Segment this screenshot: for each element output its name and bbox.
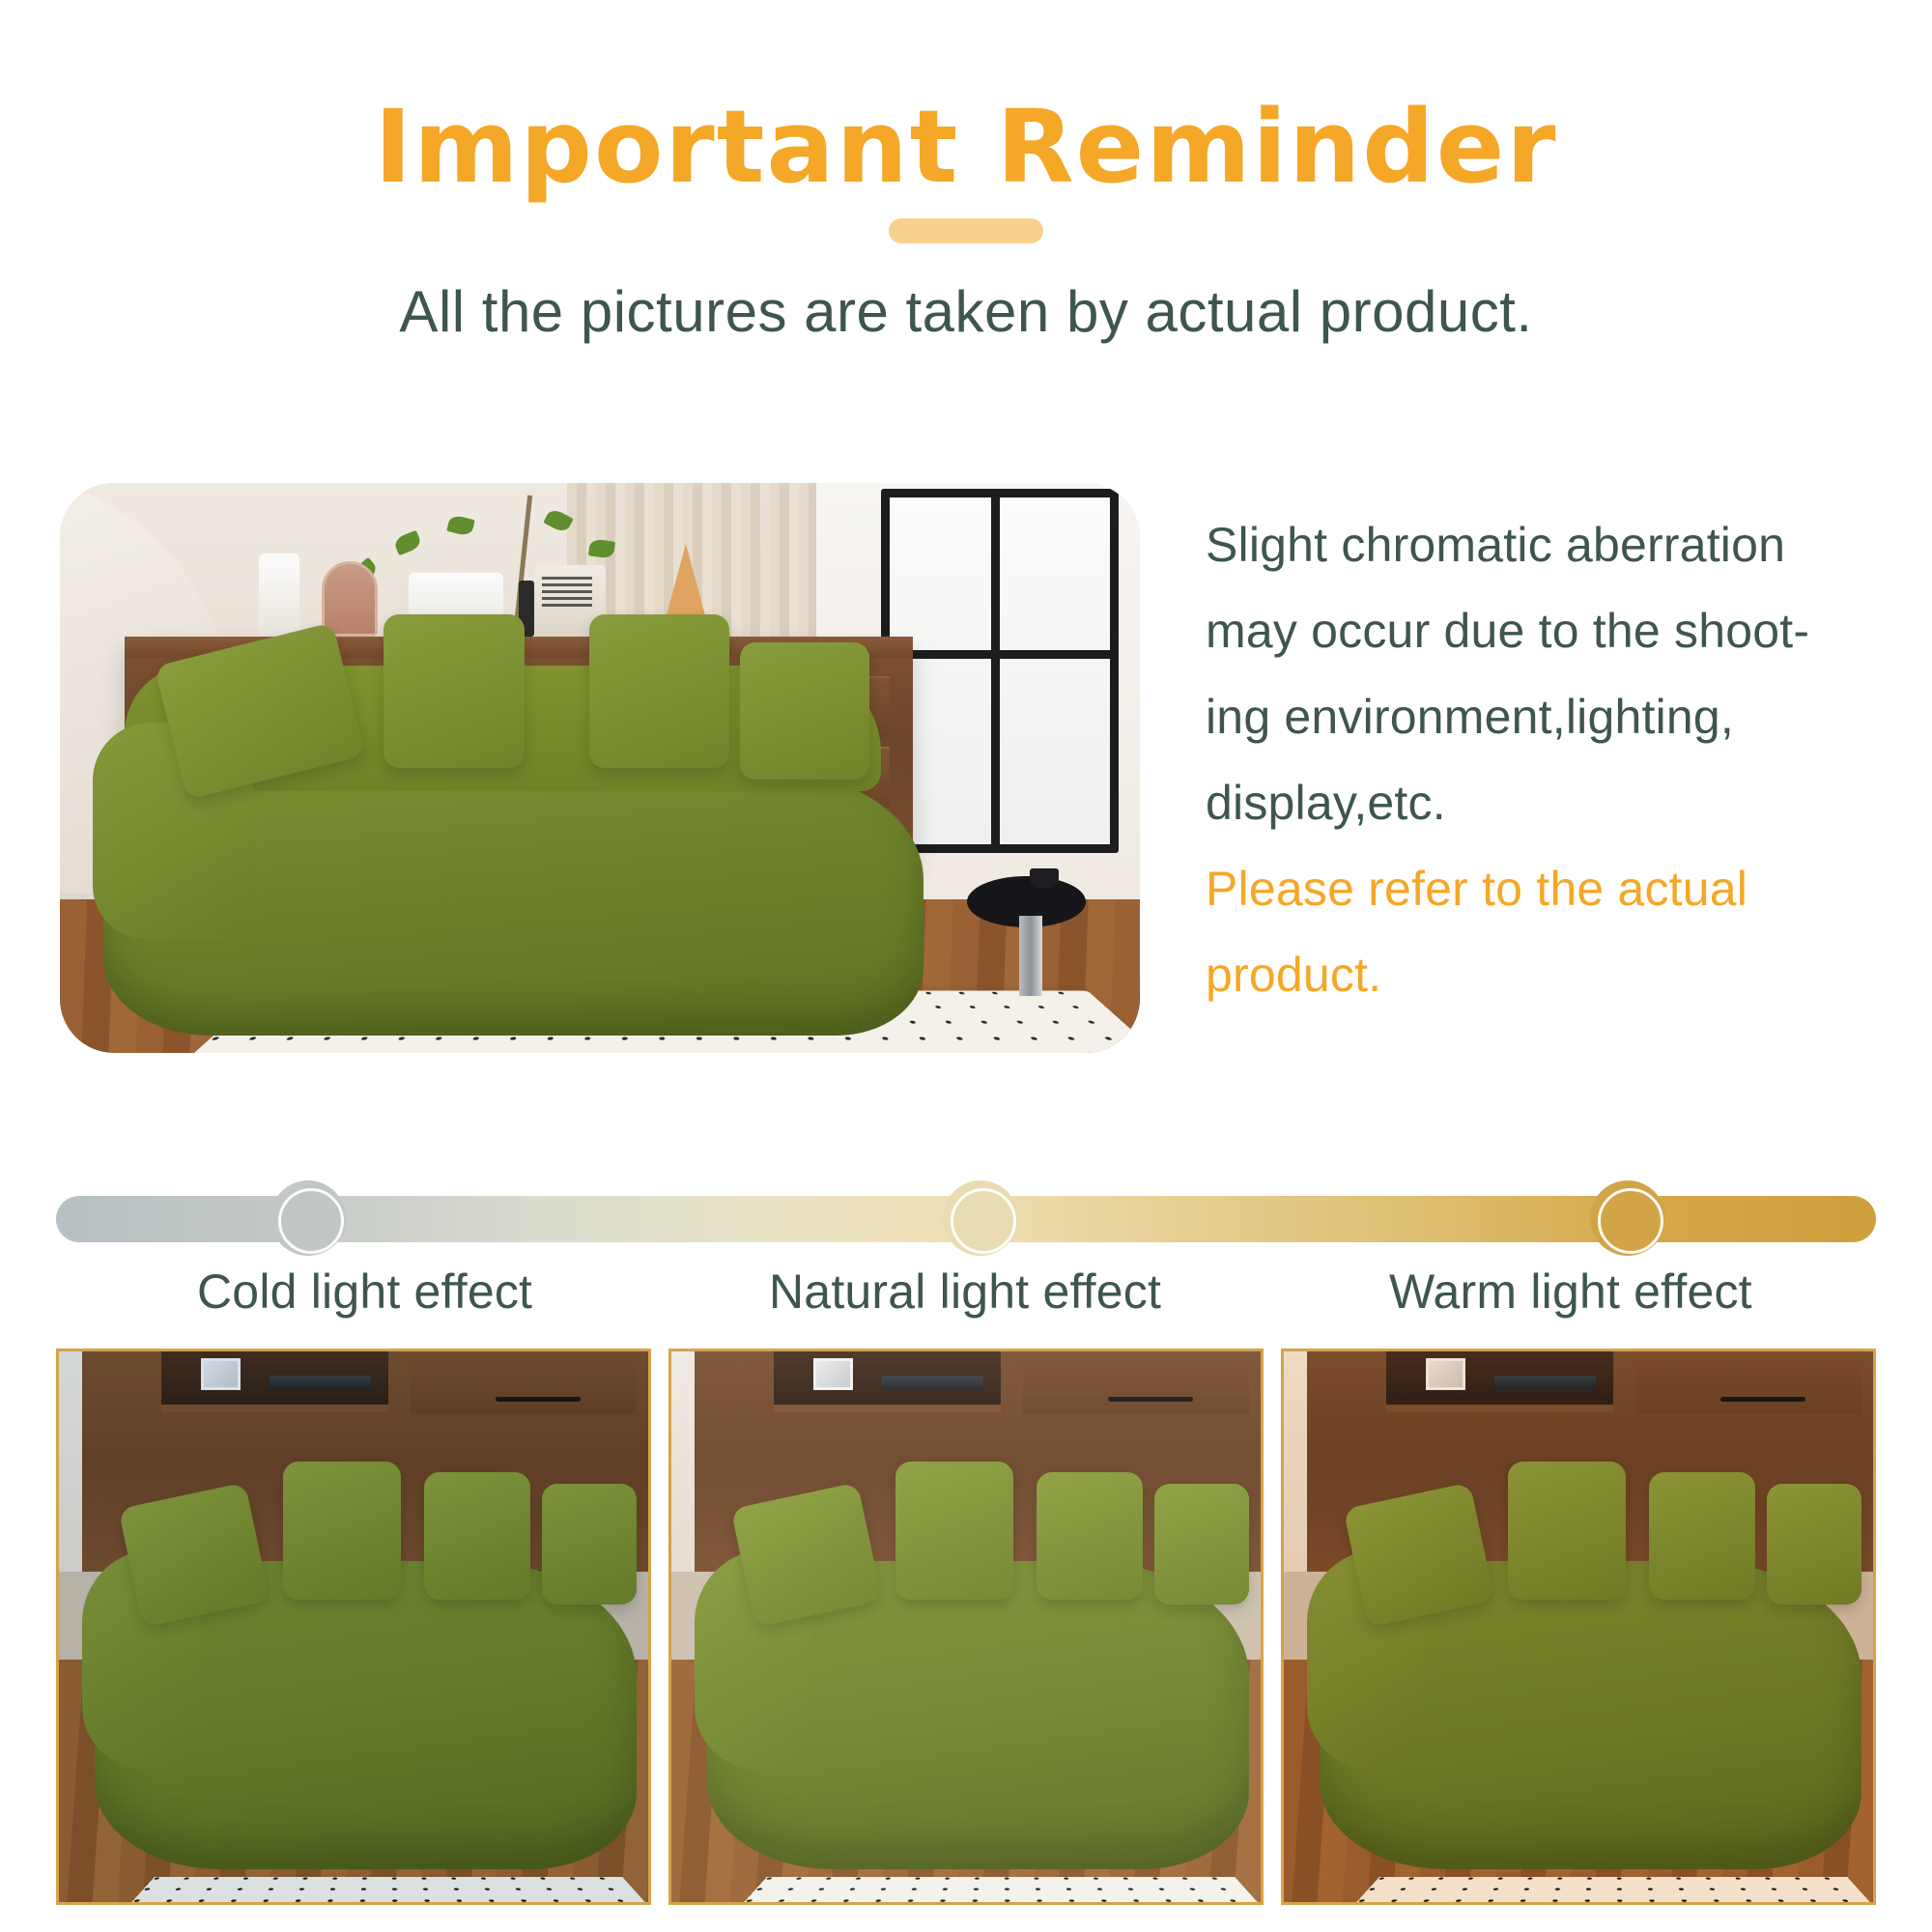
storage-tray	[270, 1376, 371, 1390]
sofa-cushion	[1154, 1484, 1249, 1605]
coffee-cup	[1030, 868, 1059, 888]
page-subtitle: All the pictures are taken by actual pro…	[0, 278, 1932, 345]
slider-knob-warm[interactable]	[1590, 1180, 1665, 1256]
sofa-cushion	[895, 1462, 1013, 1600]
disclaimer-line: may occur due to the shoot-	[1206, 588, 1872, 674]
disclaimer-emphasis-line: Please refer to the actual	[1206, 846, 1872, 932]
sofa-cushion	[283, 1462, 401, 1600]
label-natural-light-effect: Natural light effect	[769, 1264, 1161, 1320]
label-warm-light-effect: Warm light effect	[1389, 1264, 1752, 1320]
storage-tray	[882, 1376, 983, 1390]
disclaimer-line: display,etc.	[1206, 760, 1872, 846]
sideboard-drawer	[1023, 1349, 1249, 1414]
comparison-cell-cold	[56, 1349, 651, 1905]
rug-pattern	[1307, 1877, 1876, 1905]
living-room-scene	[60, 483, 1140, 1053]
arch-clock	[322, 561, 378, 637]
picture-frame	[201, 1358, 241, 1390]
label-cold-light-effect: Cold light effect	[197, 1264, 532, 1320]
rug-pattern	[695, 1877, 1264, 1905]
disclaimer-text-block: Slight chromatic aberration may occur du…	[1206, 502, 1872, 1018]
sofa-cushion	[1767, 1484, 1861, 1605]
light-temperature-slider[interactable]	[56, 1180, 1876, 1238]
natural-light-scene	[671, 1351, 1261, 1902]
disclaimer-line: ing environment,lighting,	[1206, 674, 1872, 760]
side-table-stem	[1019, 916, 1043, 996]
page-title: Important Reminder	[0, 93, 1932, 201]
comparison-cell-warm	[1281, 1349, 1876, 1905]
drawer-handle	[1720, 1397, 1805, 1402]
slider-knob-natural[interactable]	[943, 1180, 1018, 1256]
drawer-handle	[496, 1397, 581, 1402]
warm-light-scene	[1284, 1351, 1873, 1902]
reminder-infographic: Important Reminder All the pictures are …	[0, 0, 1932, 1932]
hero-row: Slight chromatic aberration may occur du…	[0, 483, 1932, 1053]
table-lamp	[259, 554, 299, 637]
sofa-cushion	[1508, 1462, 1626, 1600]
slider-knob-cold[interactable]	[270, 1180, 346, 1256]
sofa-cushion	[384, 614, 524, 768]
header: Important Reminder All the pictures are …	[0, 93, 1932, 345]
sideboard-drawer	[411, 1349, 637, 1414]
sofa-cushion	[1037, 1472, 1143, 1599]
bag-print	[542, 574, 592, 607]
picture-frame	[813, 1358, 853, 1390]
area-rug	[1307, 1877, 1876, 1905]
hero-product-photo	[60, 483, 1140, 1053]
storage-tray	[1494, 1376, 1596, 1390]
sofa-cushion	[740, 642, 869, 780]
sideboard-shelf	[774, 1405, 1000, 1413]
sofa-cushion	[542, 1484, 637, 1605]
sofa-cushion	[424, 1472, 530, 1599]
light-effect-labels: Cold light effect Natural light effect W…	[56, 1264, 1876, 1331]
sideboard-shelf	[1386, 1405, 1612, 1413]
area-rug	[82, 1877, 651, 1905]
rug-pattern	[82, 1877, 651, 1905]
disclaimer-line: Slight chromatic aberration	[1206, 502, 1872, 588]
light-comparison-strip	[56, 1349, 1876, 1905]
disclaimer-emphasis-line: product.	[1206, 932, 1872, 1018]
comparison-cell-natural	[668, 1349, 1264, 1905]
drawer-handle	[1108, 1397, 1193, 1402]
sideboard-shelf	[161, 1405, 387, 1413]
cold-light-scene	[59, 1351, 648, 1902]
window	[881, 489, 1119, 854]
sideboard-drawer	[1635, 1349, 1861, 1414]
area-rug	[695, 1877, 1264, 1905]
picture-frame	[1426, 1358, 1465, 1390]
sofa-cushion	[1649, 1472, 1755, 1599]
sofa-cushion	[589, 614, 729, 768]
title-underline-bar	[889, 218, 1043, 243]
